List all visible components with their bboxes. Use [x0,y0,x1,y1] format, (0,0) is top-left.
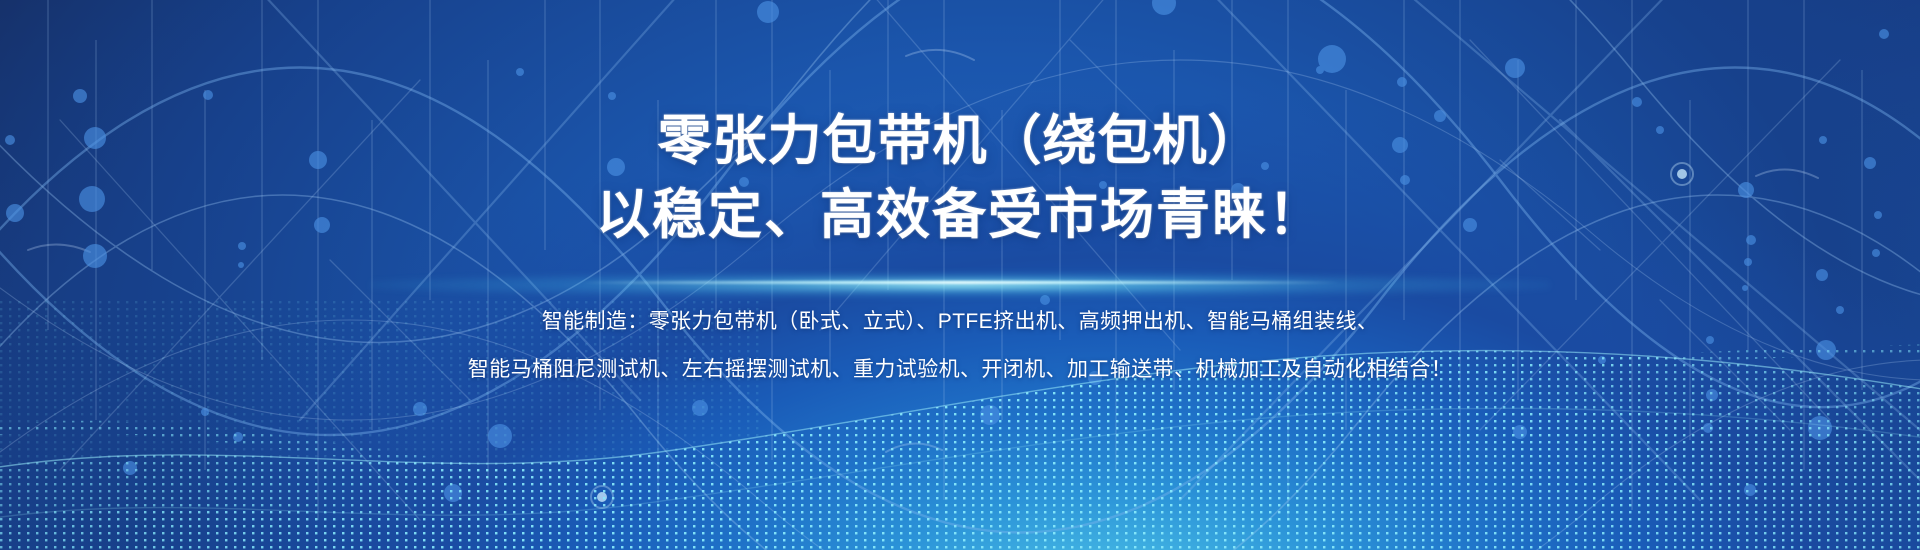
banner-headline: 零张力包带机（绕包机） 以稳定、高效备受市场青睐！ [596,104,1324,252]
headline-line-1: 零张力包带机（绕包机） [596,104,1324,178]
promo-banner: 零张力包带机（绕包机） 以稳定、高效备受市场青睐！ 智能制造：零张力包带机（卧式… [0,0,1920,550]
banner-subtitle: 智能制造：零张力包带机（卧式、立式）、PTFE挤出机、高频押出机、智能马桶组装线… [468,298,1452,394]
subtitle-line-2: 智能马桶阻尼测试机、左右摇摆测试机、重力试验机、开闭机、加工输送带、机械加工及自… [468,346,1452,394]
headline-line-2: 以稳定、高效备受市场青睐！ [596,178,1324,252]
banner-content: 零张力包带机（绕包机） 以稳定、高效备受市场青睐！ 智能制造：零张力包带机（卧式… [0,0,1920,550]
subtitle-line-1: 智能制造：零张力包带机（卧式、立式）、PTFE挤出机、高频押出机、智能马桶组装线… [468,298,1452,346]
